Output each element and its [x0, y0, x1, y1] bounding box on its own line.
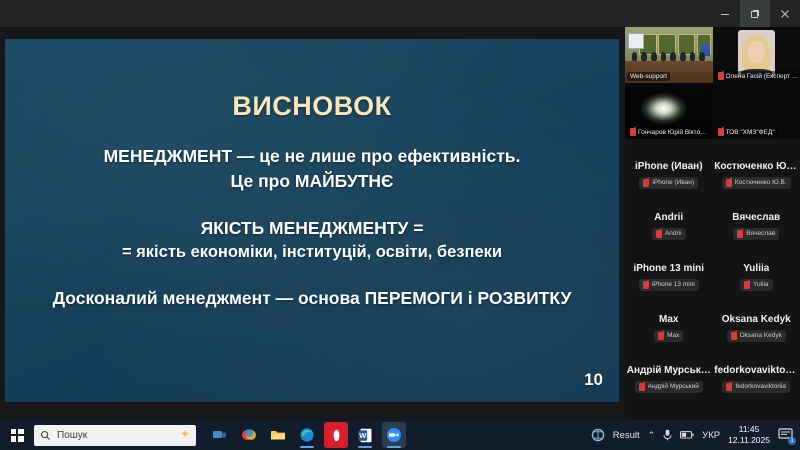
- windows-logo-icon: [11, 429, 24, 442]
- participant-cell[interactable]: Андрій Мурськ… Андрій Мурський: [625, 353, 713, 404]
- search-placeholder: Пошук: [57, 430, 190, 441]
- shared-screen-stage: ВИСНОВОК МЕНЕДЖМЕНТ — це не лише про ефе…: [0, 27, 625, 420]
- app-running-indicator: [358, 446, 372, 448]
- participant-badge: Андрій Мурський: [635, 381, 703, 393]
- video-tile-row: Гончаров Юрій Вікто… ТОВ "ХМЗ"ФЕД": [625, 83, 800, 139]
- muted-mic-icon: [726, 179, 732, 187]
- participant-cell[interactable]: Oksana Kedyk Oksana Kedyk: [713, 302, 800, 353]
- participant-display-name: Yuliia: [743, 263, 769, 274]
- clock[interactable]: 11:45 12.11.2025: [728, 424, 770, 445]
- close-button[interactable]: [770, 0, 800, 27]
- slide-line: Це про МАЙБУТНЄ: [19, 169, 605, 194]
- participant-cell[interactable]: Вячеслав Вячеслав: [713, 200, 800, 251]
- slide-line: ЯКІСТЬ МЕНЕДЖМЕНТУ =: [19, 216, 605, 241]
- participant-badge-text: Yuliia: [753, 281, 769, 288]
- taskbar-app-icons: W: [208, 422, 406, 448]
- participant-badge-text: Oksana Kedyk: [740, 332, 782, 339]
- search-icon: [40, 430, 51, 441]
- participant-badge-text: Костюченко Ю.В.: [735, 179, 787, 186]
- participant-badge-text: Андрій Мурський: [648, 383, 699, 390]
- participant-badge-text: Max: [667, 332, 679, 339]
- video-tile-tov-hmz-fed[interactable]: ТОВ "ХМЗ"ФЕД": [713, 83, 800, 139]
- muted-mic-icon: [718, 72, 724, 80]
- slide-line: = якість економіки, інституцій, освіти, …: [19, 241, 605, 264]
- muted-mic-icon: [630, 128, 636, 136]
- participant-cell[interactable]: Max Max: [625, 302, 713, 353]
- taskbar-icon-microsoft-edge[interactable]: [295, 422, 319, 448]
- slide-block: Досконалий менеджмент — основа ПЕРЕМОГИ …: [19, 286, 605, 311]
- participant-badge: Yuliia: [740, 279, 773, 291]
- copilot-icon: [241, 427, 257, 443]
- participant-display-name: Oksana Kedyk: [722, 314, 791, 325]
- video-tile-olena-hasii[interactable]: Олена Гасій (Експерт …: [713, 27, 800, 83]
- participant-cell[interactable]: iPhone 13 mini iPhone 13 mini: [625, 251, 713, 302]
- zoom-icon: [386, 427, 402, 443]
- slide-block: МЕНЕДЖМЕНТ — це не лише про ефективність…: [19, 144, 605, 194]
- slide-page-number: 10: [584, 370, 603, 390]
- notification-count: 1: [788, 437, 796, 445]
- app-running-indicator: [300, 446, 314, 448]
- tile-name-text: Гончаров Юрій Вікто…: [638, 129, 707, 136]
- muted-mic-icon: [718, 128, 724, 136]
- tile-name-label: Олена Гасій (Експерт …: [715, 71, 800, 81]
- tile-name-text: Web-support: [630, 73, 667, 80]
- tile-name-text: ТОВ "ХМЗ"ФЕД": [726, 129, 775, 136]
- participant-display-name: fedorkovaviktor…: [714, 365, 798, 376]
- copilot-sparkle-icon[interactable]: ✦: [180, 427, 190, 441]
- participant-badge-text: Вячеслав: [746, 230, 775, 237]
- minimize-button[interactable]: [710, 0, 740, 27]
- system-tray: Result ⌃ УКР 11:45 12.11.2025: [591, 424, 800, 445]
- opera-icon: [329, 428, 344, 443]
- taskbar-icon-task-view[interactable]: [208, 422, 232, 448]
- start-button[interactable]: [0, 420, 34, 450]
- participant-display-name: Max: [659, 314, 678, 325]
- tile-name-text: Олена Гасій (Експерт …: [726, 73, 799, 80]
- windows-taskbar: Пошук ✦: [0, 420, 800, 450]
- muted-mic-icon: [726, 383, 732, 391]
- participant-cell[interactable]: Костюченко Ю.В. Костюченко Ю.В.: [713, 149, 800, 200]
- muted-mic-icon: [639, 383, 645, 391]
- participant-display-name: Андрій Мурськ…: [627, 365, 711, 376]
- participant-badge: Andrii: [652, 228, 686, 240]
- participant-badge-text: Andrii: [665, 230, 682, 237]
- participants-panel: Web-support Олена Гасій (Експерт … Гонча…: [625, 27, 800, 420]
- tile-name-label: Гончаров Юрій Вікто…: [627, 127, 710, 137]
- clock-time: 11:45: [728, 424, 770, 435]
- slide-line: Досконалий менеджмент — основа ПЕРЕМОГИ …: [19, 286, 605, 311]
- tray-app-label[interactable]: Result: [613, 430, 640, 441]
- muted-mic-icon: [744, 281, 750, 289]
- muted-mic-icon: [658, 332, 664, 340]
- participant-badge: Max: [654, 330, 683, 342]
- taskbar-icon-copilot[interactable]: [237, 422, 261, 448]
- clock-date: 12.11.2025: [728, 435, 770, 446]
- taskbar-icon-opera[interactable]: [324, 422, 348, 448]
- result-app-icon[interactable]: [591, 428, 605, 442]
- file-explorer-icon: [270, 428, 286, 442]
- video-tile-web-support[interactable]: Web-support: [625, 27, 713, 83]
- slide-line: МЕНЕДЖМЕНТ — це не лише про ефективність…: [19, 144, 605, 169]
- participant-badge: fedorkovaviktoriia: [722, 381, 790, 393]
- participant-badge: Костюченко Ю.В.: [722, 177, 791, 189]
- tile-name-label: Web-support: [627, 72, 670, 81]
- video-tile-row: Web-support Олена Гасій (Експерт …: [625, 27, 800, 83]
- svg-text:W: W: [359, 431, 367, 440]
- participant-cell[interactable]: iPhone (Иван) iPhone (Иван): [625, 149, 713, 200]
- participant-badge: Oksana Kedyk: [727, 330, 786, 342]
- battery-icon[interactable]: [680, 430, 694, 440]
- taskbar-icon-zoom[interactable]: [382, 422, 406, 448]
- slide-block: ЯКІСТЬ МЕНЕДЖМЕНТУ = = якість економіки,…: [19, 216, 605, 264]
- muted-mic-icon: [731, 332, 737, 340]
- participant-display-name: Костюченко Ю.В.: [714, 161, 798, 172]
- tile-name-label: ТОВ "ХМЗ"ФЕД": [715, 127, 778, 137]
- muted-mic-icon: [737, 230, 743, 238]
- participant-cell[interactable]: Yuliia Yuliia: [713, 251, 800, 302]
- participant-badge: iPhone 13 mini: [639, 279, 699, 291]
- participant-cell[interactable]: Andrii Andrii: [625, 200, 713, 251]
- notification-center-button[interactable]: 1: [778, 427, 794, 443]
- zoom-meeting-window: ВИСНОВОК МЕНЕДЖМЕНТ — це не лише про ефе…: [0, 0, 800, 450]
- task-view-icon: [212, 428, 228, 442]
- search-input[interactable]: Пошук ✦: [34, 425, 196, 446]
- slide-body: МЕНЕДЖМЕНТ — це не лише про ефективність…: [19, 144, 605, 311]
- muted-mic-icon: [656, 230, 662, 238]
- edge-icon: [299, 427, 315, 443]
- participant-badge-text: fedorkovaviktoriia: [735, 383, 786, 390]
- participant-display-name: iPhone (Иван): [635, 161, 703, 172]
- video-tile-honcharov[interactable]: Гончаров Юрій Вікто…: [625, 83, 713, 139]
- app-running-indicator: [387, 446, 401, 448]
- participant-name-grid: iPhone (Иван) iPhone (Иван) Костюченко Ю…: [625, 139, 800, 404]
- participant-badge-text: iPhone (Иван): [652, 179, 694, 186]
- restore-button[interactable]: [740, 0, 770, 27]
- participant-display-name: Вячеслав: [732, 212, 780, 223]
- muted-mic-icon: [643, 179, 649, 187]
- window-title-bar: [0, 0, 800, 27]
- word-icon: W: [358, 428, 372, 443]
- participant-badge: iPhone (Иван): [639, 177, 698, 189]
- taskbar-icon-file-explorer[interactable]: [266, 422, 290, 448]
- participant-cell[interactable]: fedorkovaviktor… fedorkovaviktoriia: [713, 353, 800, 404]
- muted-mic-icon: [643, 281, 649, 289]
- taskbar-icon-microsoft-word[interactable]: W: [353, 422, 377, 448]
- participant-badge-text: iPhone 13 mini: [652, 281, 695, 288]
- participant-badge: Вячеслав: [733, 228, 779, 240]
- participant-display-name: Andrii: [654, 212, 683, 223]
- slide-title: ВИСНОВОК: [5, 91, 619, 122]
- microphone-icon[interactable]: [663, 429, 672, 441]
- participant-display-name: iPhone 13 mini: [633, 263, 704, 274]
- presentation-slide: ВИСНОВОК МЕНЕДЖМЕНТ — це не лише про ефе…: [5, 39, 619, 402]
- language-indicator[interactable]: УКР: [702, 430, 720, 441]
- show-hidden-icons-chevron-icon[interactable]: ⌃: [648, 430, 656, 441]
